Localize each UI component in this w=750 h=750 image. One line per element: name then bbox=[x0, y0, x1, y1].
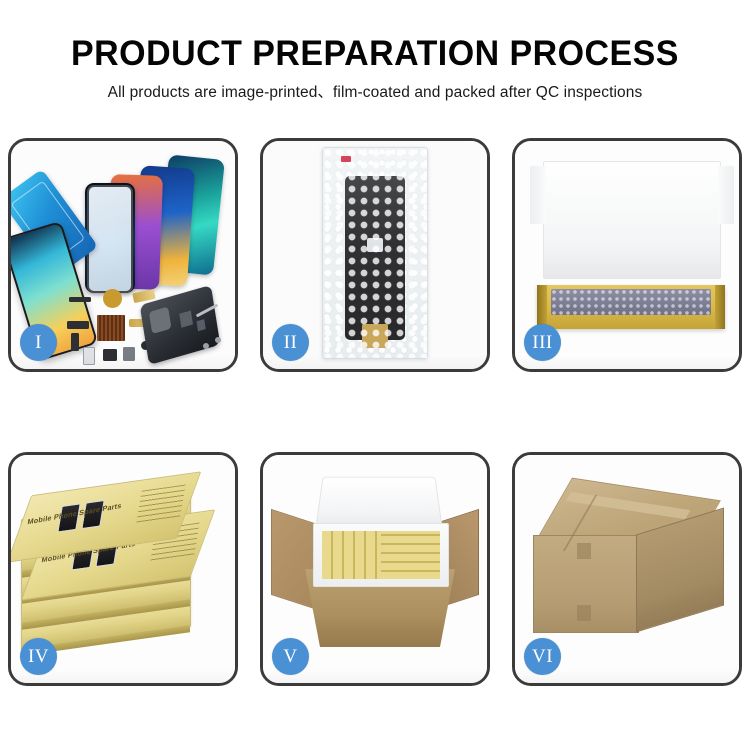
step-badge-3: III bbox=[524, 324, 561, 361]
page-header: PRODUCT PREPARATION PROCESS All products… bbox=[0, 0, 750, 130]
process-step-grid: I II III bbox=[8, 138, 742, 686]
tray-left-edge bbox=[537, 285, 547, 329]
step-badge-6: VI bbox=[524, 638, 561, 675]
box-spec-text-block-2 bbox=[136, 485, 185, 524]
step-badge-4: IV bbox=[20, 638, 57, 675]
page-title: PRODUCT PREPARATION PROCESS bbox=[11, 0, 739, 74]
process-step-panel-5[interactable]: V bbox=[260, 452, 490, 686]
step-badge-5: V bbox=[272, 638, 309, 675]
part-connector-bar bbox=[69, 297, 91, 302]
bubble-wrap-bag bbox=[322, 147, 428, 359]
part-chip-grid bbox=[97, 315, 125, 341]
step-badge-1: I bbox=[20, 324, 57, 361]
tray-right-edge bbox=[715, 285, 725, 329]
step-badge-2: II bbox=[272, 324, 309, 361]
screen-protector-glass bbox=[87, 185, 133, 293]
lcd-screen-assembly bbox=[345, 176, 405, 340]
lcd-flex-connector bbox=[362, 324, 388, 348]
process-step-panel-3[interactable]: III bbox=[512, 138, 742, 372]
part-screw-3 bbox=[203, 343, 209, 349]
bubble-wrapped-contents bbox=[551, 289, 711, 315]
carton-tape-front-upper bbox=[577, 543, 591, 559]
process-step-panel-1[interactable]: I bbox=[8, 138, 238, 372]
box-stack: Mobile Phone Spare Parts Mobile Phone Sp… bbox=[17, 479, 227, 655]
shipping-carton bbox=[533, 489, 723, 639]
lcd-driver-ic bbox=[367, 238, 383, 252]
part-gold-coil bbox=[103, 289, 122, 308]
part-bracket-1 bbox=[67, 321, 89, 329]
foam-box bbox=[313, 523, 449, 587]
part-screw-2 bbox=[215, 337, 221, 343]
carton-tape-front-lower bbox=[577, 605, 591, 621]
process-step-panel-6[interactable]: VI bbox=[512, 452, 742, 686]
process-step-panel-4[interactable]: Mobile Phone Spare Parts Mobile Phone Sp… bbox=[8, 452, 238, 686]
white-box-lid bbox=[543, 161, 721, 279]
yellow-boxes-inside-right bbox=[381, 531, 440, 579]
process-step-panel-2[interactable]: II bbox=[260, 138, 490, 372]
part-bracket-2 bbox=[71, 333, 79, 351]
page-subtitle: All products are image-printed、film-coat… bbox=[0, 74, 750, 103]
bag-qc-sticker bbox=[341, 156, 351, 162]
yellow-inner-box-tray bbox=[537, 285, 725, 329]
